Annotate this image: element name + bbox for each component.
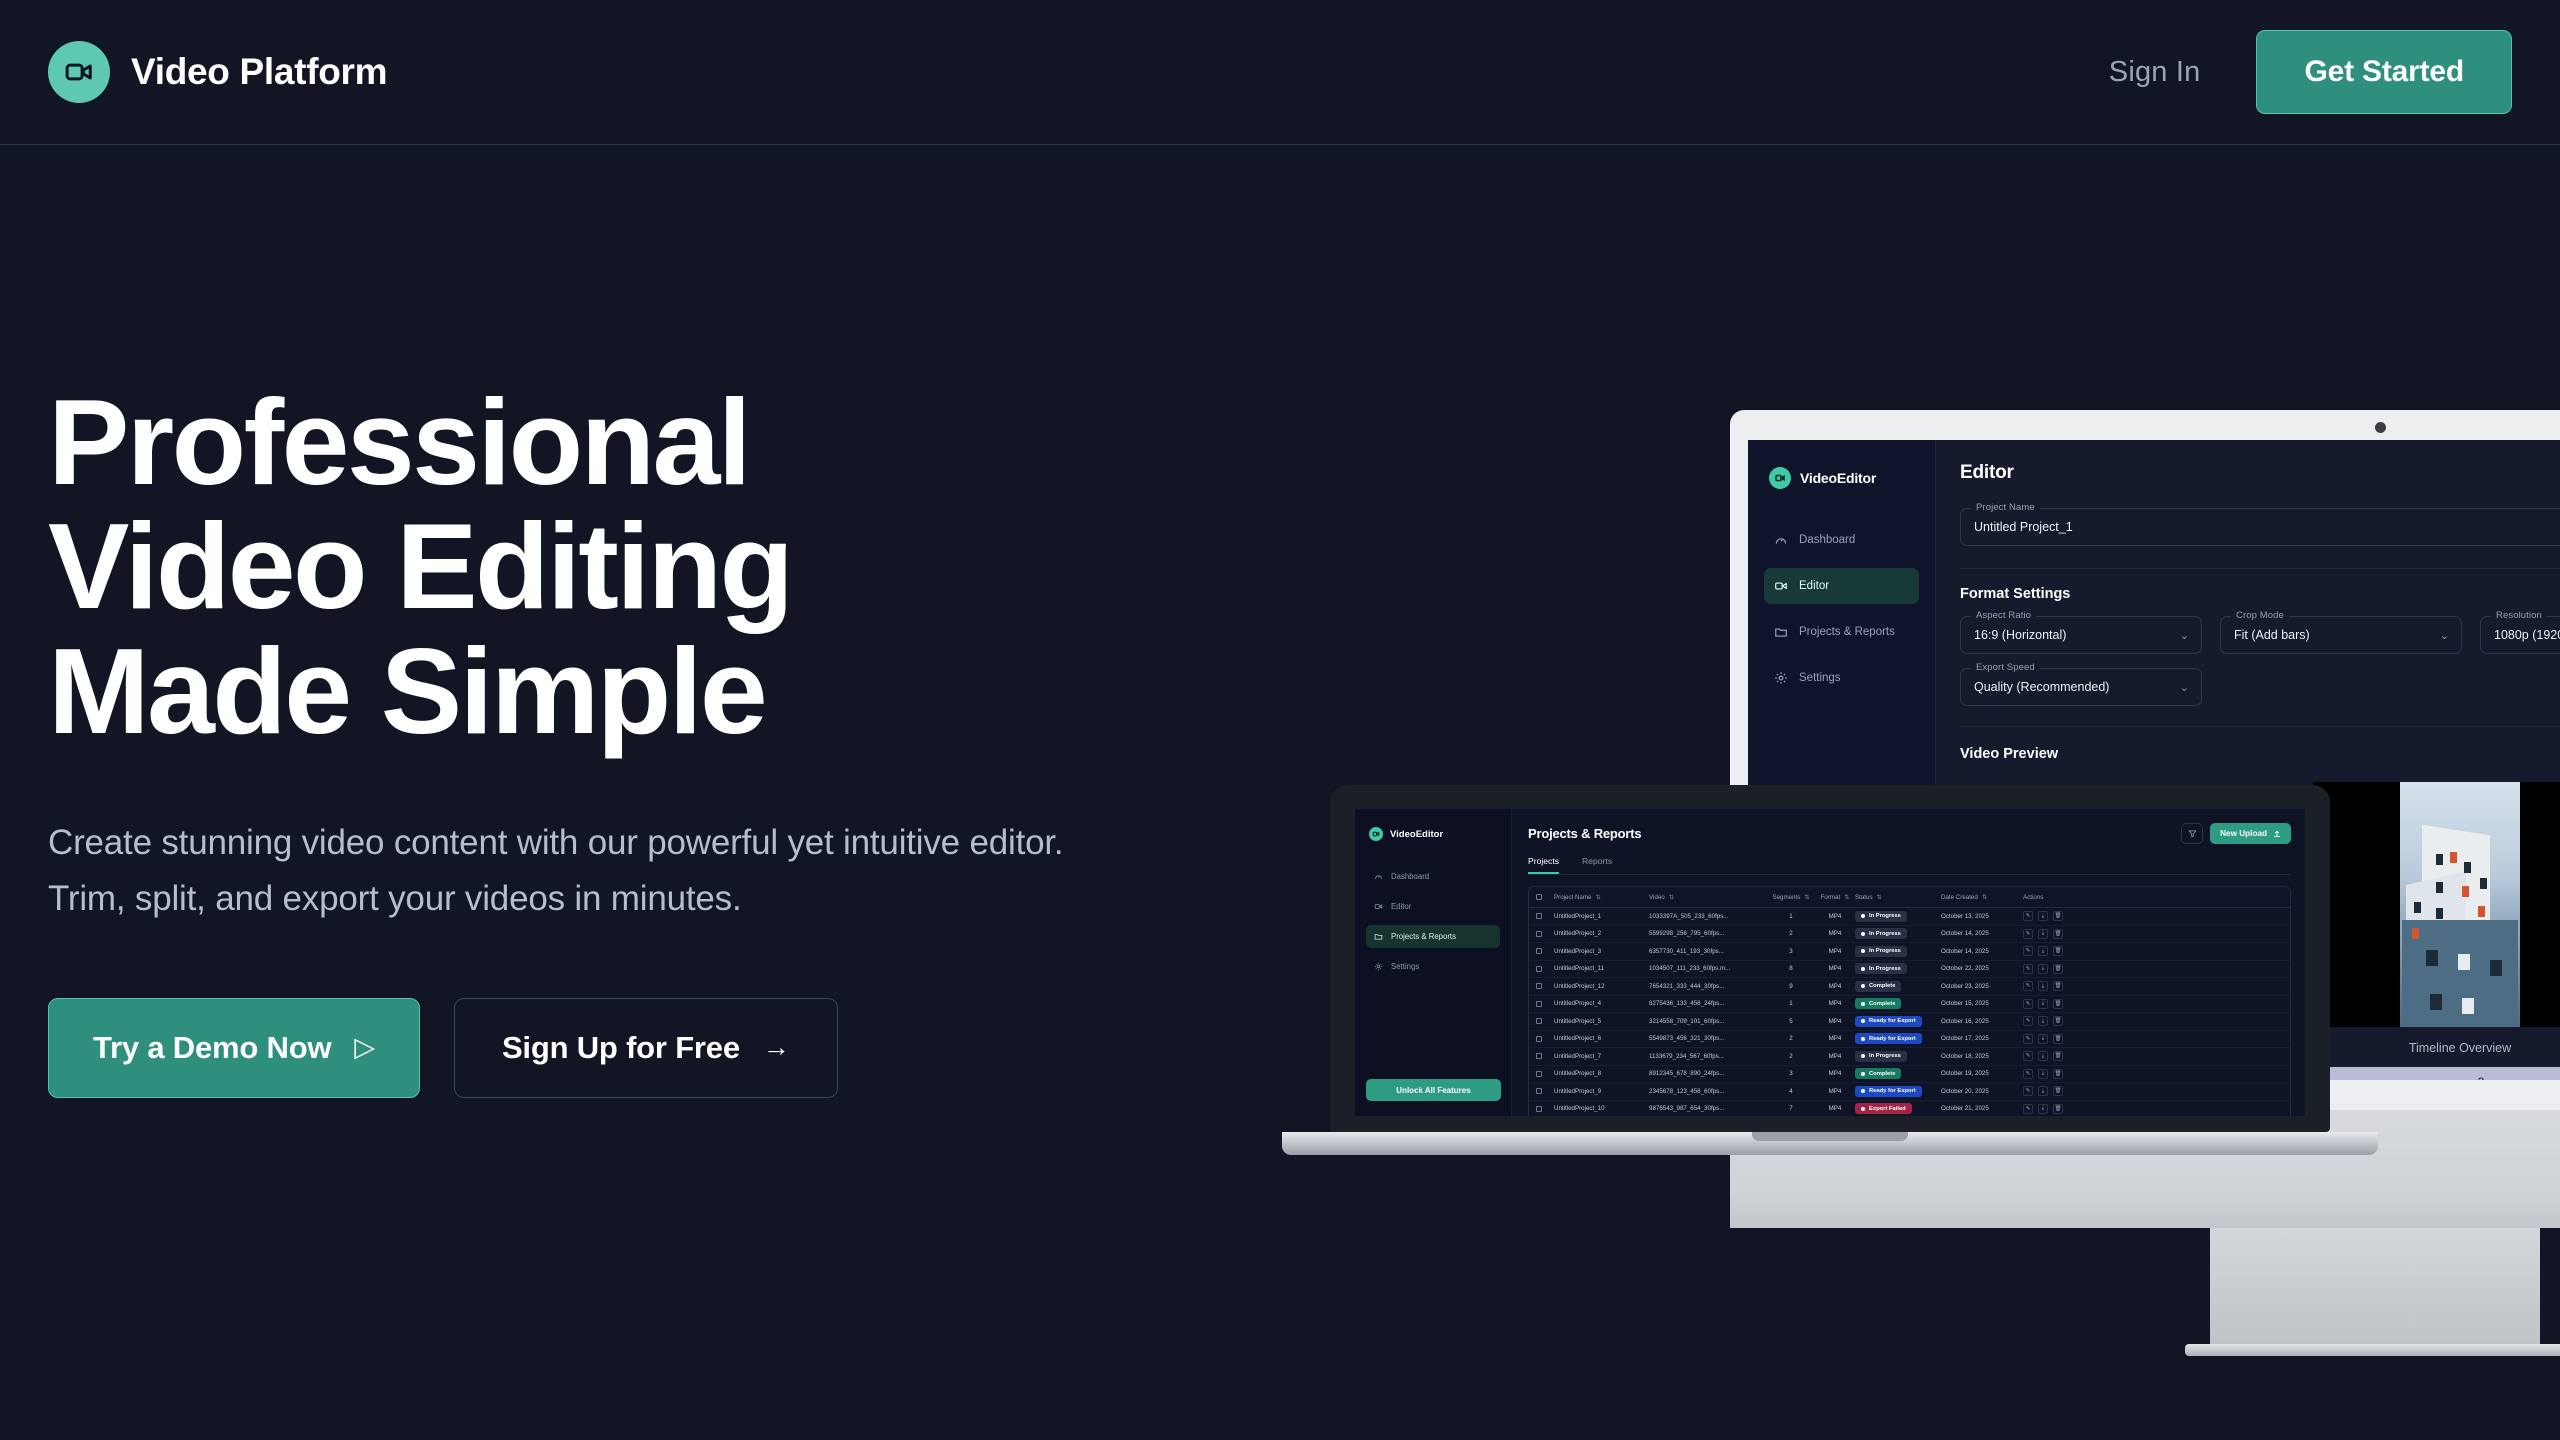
laptop-screen: VideoEditor Dashboard Editor Projects & … [1355,809,2305,1116]
hero-subtitle: Create stunning video content with our p… [48,815,1138,926]
status-badge: In Progress [1855,911,1907,922]
table-row[interactable]: UntitledProject_10 9876543_987_654_30fps… [1529,1101,2290,1117]
table-row[interactable]: UntitledProject_8 8912345_678_890_24fps.… [1529,1066,2290,1084]
status-badge: In Progress [1855,963,1907,974]
table-row[interactable]: UntitledProject_11 1034507_111_233_60fps… [1529,961,2290,979]
cell-date-created: October 22, 2025 [1941,965,2023,972]
cell-project-name: UntitledProject_9 [1554,1088,1649,1095]
project-name-value: Untitled Project_1 [1974,520,2073,534]
edit-icon[interactable]: ✎ [2023,981,2033,991]
row-checkbox[interactable] [1536,1088,1554,1094]
trash-icon[interactable]: 🗑 [2053,1051,2063,1061]
edit-icon[interactable]: ✎ [2023,1104,2033,1114]
cell-video: 6357730_411_193_30fps... [1649,948,1767,955]
edit-icon[interactable]: ✎ [2023,1016,2033,1026]
sidebar-item-settings[interactable]: Settings [1764,660,1919,696]
table-row[interactable]: UntitledProject_3 6357730_411_193_30fps.… [1529,943,2290,961]
download-icon[interactable]: ⤓ [2038,911,2048,921]
sign-in-button[interactable]: Sign In [2109,56,2201,89]
cell-status: Export Failed [1855,1103,1941,1114]
cell-date-created: October 21, 2025 [1941,1105,2023,1112]
resolution-value: 1080p (1920x1080) [2494,628,2560,642]
projects-app: VideoEditor Dashboard Editor Projects & … [1355,809,2305,1116]
cell-status: Complete [1855,981,1941,992]
crop-mode-value: Fit (Add bars) [2234,628,2310,642]
cell-format: MP4 [1815,948,1855,955]
sidebar-item-label: Settings [1799,672,1841,684]
cell-project-name: UntitledProject_4 [1554,1000,1649,1007]
hero-title-line-3: Made Simple [48,629,1228,753]
sidebar-item-editor[interactable]: Editor [1366,895,1500,918]
aspect-ratio-label: Aspect Ratio [1971,610,2036,621]
trash-icon[interactable]: 🗑 [2053,981,2063,991]
cell-actions: ✎ ⤓ 🗑 [2023,1034,2283,1044]
cell-format: MP4 [1815,1053,1855,1060]
sort-icon: ⇅ [1595,894,1600,901]
cell-date-created: October 18, 2025 [1941,1053,2023,1060]
status-badge: Ready for Export [1855,1033,1922,1044]
table-row[interactable]: UntitledProject_2 5599298_256_795_60fps.… [1529,926,2290,944]
sidebar-item-label: Dashboard [1799,534,1855,546]
cell-project-name: UntitledProject_7 [1554,1053,1649,1060]
sidebar-item-label: Editor [1799,580,1829,592]
sidebar-item-editor[interactable]: Editor [1764,568,1919,604]
new-upload-button[interactable]: New Upload [2210,823,2291,844]
video-camera-icon [1369,827,1383,841]
projects-tabs: ProjectsReports [1528,856,2291,875]
projects-toolbar: New Upload [2181,823,2291,844]
divider [1960,726,2560,727]
chevron-down-icon: ⌄ [2440,629,2449,642]
cell-date-created: October 13, 2025 [1941,913,2023,920]
cell-video: 8275436_133_456_24fps... [1649,1000,1767,1007]
monitor-stand-neck [2210,1228,2540,1350]
status-badge: Export Failed [1855,1103,1912,1114]
cell-project-name: UntitledProject_12 [1554,983,1649,990]
sidebar-item-settings[interactable]: Settings [1366,955,1500,978]
tab-projects[interactable]: Projects [1528,856,1559,874]
chevron-down-icon: ⌄ [2180,629,2189,642]
cell-video: 5599298_256_795_60fps... [1649,930,1767,937]
timeline-overview-caption: Timeline Overview [2409,1041,2511,1055]
editor-brand: VideoEditor [1764,467,1919,489]
cell-status: Ready for Export [1855,1016,1941,1027]
gear-icon [1374,962,1383,971]
sort-icon: ⇅ [1844,894,1849,901]
format-settings-row-1: Aspect Ratio 16:9 (Horizontal) ⌄ Crop Mo… [1960,602,2560,654]
row-checkbox[interactable] [1536,948,1554,954]
gauge-icon [1374,872,1383,881]
cell-video: 1133679_234_567_60fps... [1649,1053,1767,1060]
arrow-right-icon: → [763,1034,790,1061]
column-video[interactable]: Video⇅ [1649,894,1767,901]
try-demo-button[interactable]: Try a Demo Now ▷ [48,998,420,1098]
cell-video: 3214558_709_101_60fps... [1649,1018,1767,1025]
cell-actions: ✎ ⤓ 🗑 [2023,1069,2283,1079]
table-row[interactable]: UntitledProject_7 1133679_234_567_60fps.… [1529,1048,2290,1066]
cell-actions: ✎ ⤓ 🗑 [2023,964,2283,974]
video-camera-icon [1774,579,1788,593]
status-badge: Complete [1855,1068,1901,1079]
trash-icon[interactable]: 🗑 [2053,929,2063,939]
sort-icon: ⇅ [1877,894,1882,901]
cell-segments: 4 [1767,1088,1815,1095]
sidebar-item-label: Dashboard [1391,872,1429,881]
sort-icon: ⇅ [1669,894,1674,901]
cell-format: MP4 [1815,930,1855,937]
cell-actions: ✎ ⤓ 🗑 [2023,1086,2283,1096]
edit-icon[interactable]: ✎ [2023,1086,2033,1096]
gear-icon [1774,671,1788,685]
row-checkbox[interactable] [1536,1106,1554,1112]
row-checkbox[interactable] [1536,1018,1554,1024]
column-date-created[interactable]: Date Created⇅ [1941,894,2023,901]
table-row[interactable]: UntitledProject_9 2345678_123_456_60fps.… [1529,1083,2290,1101]
chevron-down-icon: ⌄ [2180,681,2189,694]
video-player[interactable] [2313,782,2560,1027]
projects-page-title: Projects & Reports [1528,826,2291,841]
cell-actions: ✎ ⤓ 🗑 [2023,1104,2283,1114]
cell-format: MP4 [1815,1035,1855,1042]
upload-icon [2273,830,2281,838]
table-row[interactable]: UntitledProject_6 5549873_456_321_30fps.… [1529,1031,2290,1049]
cell-project-name: UntitledProject_3 [1554,948,1649,955]
status-badge: Complete [1855,981,1901,992]
projects-brand-name: VideoEditor [1390,829,1443,840]
cell-segments: 2 [1767,1053,1815,1060]
download-icon[interactable]: ⤓ [2038,1016,2048,1026]
row-checkbox[interactable] [1536,966,1554,972]
cell-actions: ✎ ⤓ 🗑 [2023,929,2283,939]
header-actions: Sign In Get Started [2109,30,2512,114]
cell-segments: 2 [1767,930,1815,937]
trash-icon[interactable]: 🗑 [2053,999,2063,1009]
monitor-stand-foot [2185,1344,2560,1356]
trash-icon[interactable]: 🗑 [2053,1034,2063,1044]
webcam-icon [2375,422,2386,433]
download-icon[interactable]: ⤓ [2038,946,2048,956]
download-icon[interactable]: ⤓ [2038,929,2048,939]
sidebar-item-projects-reports[interactable]: Projects & Reports [1366,925,1500,948]
video-preview-heading: Video Preview [1960,746,2058,762]
cell-date-created: October 15, 2025 [1941,1000,2023,1007]
sidebar-item-projects-reports[interactable]: Projects & Reports [1764,614,1919,650]
cell-actions: ✎ ⤓ 🗑 [2023,981,2283,991]
edit-icon[interactable]: ✎ [2023,964,2033,974]
row-checkbox[interactable] [1536,1036,1554,1042]
export-speed-value: Quality (Recommended) [1974,680,2109,694]
folder-icon [1774,625,1788,639]
hero-cta-row: Try a Demo Now ▷ Sign Up for Free → [48,998,1228,1098]
cell-format: MP4 [1815,913,1855,920]
product-mockup-scene: VideoEditor Dashboard Editor Projects & … [1330,330,2560,1200]
export-speed-label: Export Speed [1971,662,2040,673]
cell-format: MP4 [1815,983,1855,990]
edit-icon[interactable]: ✎ [2023,999,2033,1009]
status-badge: In Progress [1855,928,1907,939]
sort-icon: ⇅ [1804,894,1809,901]
cell-format: MP4 [1815,1088,1855,1095]
crop-mode-label: Crop Mode [2231,610,2289,621]
edit-icon[interactable]: ✎ [2023,911,2033,921]
column-project-name[interactable]: Project Name⇅ [1554,894,1649,901]
hero-section: Professional Video Editing Made Simple C… [48,380,1228,1098]
projects-brand: VideoEditor [1366,827,1500,841]
trash-icon[interactable]: 🗑 [2053,1016,2063,1026]
resolution-select[interactable]: Resolution 1080p (1920x1080) ⌄ [2480,616,2560,654]
cell-project-name: UntitledProject_10 [1554,1105,1649,1112]
download-icon[interactable]: ⤓ [2038,964,2048,974]
cell-actions: ✎ ⤓ 🗑 [2023,946,2283,956]
cell-format: MP4 [1815,1105,1855,1112]
cell-date-created: October 16, 2025 [1941,1018,2023,1025]
row-checkbox[interactable] [1536,1001,1554,1007]
cell-video: 5549873_456_321_30fps... [1649,1035,1767,1042]
sign-up-free-button[interactable]: Sign Up for Free → [454,998,838,1098]
edit-icon[interactable]: ✎ [2023,1069,2033,1079]
cell-actions: ✎ ⤓ 🗑 [2023,911,2283,921]
video-preview-header: Video Preview Video player size [1960,746,2560,762]
laptop-notch [1770,785,1890,800]
download-icon[interactable]: ⤓ [2038,999,2048,1009]
cell-segments: 3 [1767,1070,1815,1077]
cell-video: 8912345_678_890_24fps... [1649,1070,1767,1077]
cell-segments: 3 [1767,948,1815,955]
cell-date-created: October 17, 2025 [1941,1035,2023,1042]
cell-actions: ✎ ⤓ 🗑 [2023,1016,2283,1026]
cell-status: Ready for Export [1855,1086,1941,1097]
row-checkbox[interactable] [1536,1071,1554,1077]
sidebar-item-dashboard[interactable]: Dashboard [1764,522,1919,558]
crop-mode-select[interactable]: Crop Mode Fit (Add bars) ⌄ [2220,616,2462,654]
cell-status: In Progress [1855,911,1941,922]
brand-name: Video Platform [131,51,387,93]
download-icon[interactable]: ⤓ [2038,1086,2048,1096]
projects-nav-list: Dashboard Editor Projects & Reports Sett… [1366,865,1500,978]
export-speed-select[interactable]: Export Speed Quality (Recommended) ⌄ [1960,668,2202,706]
table-row[interactable]: UntitledProject_12 7654321_333_444_30fps… [1529,978,2290,996]
edit-icon[interactable]: ✎ [2023,946,2033,956]
projects-table: Project Name⇅ Video⇅ Segments⇅ Format⇅ S… [1528,886,2291,1116]
cell-format: MP4 [1815,1070,1855,1077]
laptop-trackpad-notch [1752,1132,1908,1141]
row-checkbox[interactable] [1536,983,1554,989]
download-icon[interactable]: ⤓ [2038,1051,2048,1061]
project-name-label: Project Name [1971,502,2040,513]
cell-project-name: UntitledProject_1 [1554,913,1649,920]
download-icon[interactable]: ⤓ [2038,1034,2048,1044]
cell-date-created: October 23, 2025 [1941,983,2023,990]
get-started-button[interactable]: Get Started [2256,30,2512,114]
cell-status: Ready for Export [1855,1033,1941,1044]
cell-status: Complete [1855,998,1941,1009]
editor-page-title: Editor [1960,462,2560,484]
download-icon[interactable]: ⤓ [2038,981,2048,991]
table-body: UntitledProject_1 1033397A_505_233_60fps… [1529,908,2290,1116]
cell-date-created: October 20, 2025 [1941,1088,2023,1095]
select-all-checkbox[interactable] [1536,894,1554,900]
cell-segments: 2 [1767,1035,1815,1042]
column-status[interactable]: Status⇅ [1855,894,1941,901]
hero-title-line-1: Professional [48,380,1228,504]
brand-logo[interactable]: Video Platform [48,41,387,103]
cell-segments: 7 [1767,1105,1815,1112]
cell-segments: 9 [1767,983,1815,990]
aspect-ratio-value: 16:9 (Horizontal) [1974,628,2066,642]
sidebar-item-dashboard[interactable]: Dashboard [1366,865,1500,888]
trash-icon[interactable]: 🗑 [2053,911,2063,921]
cell-video: 9876543_987_654_30fps... [1649,1105,1767,1112]
status-badge: Complete [1855,998,1901,1009]
row-checkbox[interactable] [1536,931,1554,937]
status-badge: Ready for Export [1855,1086,1922,1097]
status-badge: In Progress [1855,946,1907,957]
edit-icon[interactable]: ✎ [2023,929,2033,939]
sidebar-item-label: Settings [1391,962,1419,971]
cell-status: In Progress [1855,946,1941,957]
cell-video: 2345678_123_456_60fps... [1649,1088,1767,1095]
projects-sidebar: VideoEditor Dashboard Editor Projects & … [1355,809,1512,1116]
cell-segments: 5 [1767,1018,1815,1025]
column-format[interactable]: Format⇅ [1815,894,1855,901]
projects-main: Projects & Reports New Upload [1512,809,2305,1116]
cell-status: Complete [1855,1068,1941,1079]
cell-status: In Progress [1855,1051,1941,1062]
cell-status: In Progress [1855,963,1941,974]
tab-reports[interactable]: Reports [1582,856,1612,874]
page-title: Professional Video Editing Made Simple [48,380,1228,753]
sidebar-item-label: Projects & Reports [1799,626,1895,638]
cell-segments: 8 [1767,965,1815,972]
cell-project-name: UntitledProject_5 [1554,1018,1649,1025]
cell-actions: ✎ ⤓ 🗑 [2023,1051,2283,1061]
format-settings-heading: Format Settings [1960,586,2560,602]
editor-brand-name: VideoEditor [1800,470,1876,486]
row-checkbox[interactable] [1536,1053,1554,1059]
hero-title-line-2: Video Editing [48,504,1228,628]
resolution-label: Resolution [2491,610,2547,621]
aspect-ratio-select[interactable]: Aspect Ratio 16:9 (Horizontal) ⌄ [1960,616,2202,654]
gauge-icon [1774,533,1788,547]
cell-project-name: UntitledProject_6 [1554,1035,1649,1042]
trash-icon[interactable]: 🗑 [2053,1069,2063,1079]
cell-video: 1034507_111_233_60fps.m... [1649,965,1767,972]
table-row[interactable]: UntitledProject_1 1033397A_505_233_60fps… [1529,908,2290,926]
cell-segments: 1 [1767,1000,1815,1007]
table-header-row: Project Name⇅ Video⇅ Segments⇅ Format⇅ S… [1529,887,2290,908]
sort-icon: ⇅ [1982,894,1987,901]
cell-project-name: UntitledProject_8 [1554,1070,1649,1077]
play-triangle-icon: ▷ [354,1034,375,1061]
new-upload-label: New Upload [2220,829,2267,838]
edit-icon[interactable]: ✎ [2023,1034,2033,1044]
laptop-mockup: VideoEditor Dashboard Editor Projects & … [1330,785,2330,1185]
cell-video: 1033397A_505_233_60fps... [1649,913,1767,920]
trash-icon[interactable]: 🗑 [2053,964,2063,974]
status-badge: Ready for Export [1855,1016,1922,1027]
cell-segments: 1 [1767,913,1815,920]
status-badge: In Progress [1855,1051,1907,1062]
video-camera-icon [48,41,110,103]
divider [1960,568,2560,569]
download-icon[interactable]: ⤓ [2038,1104,2048,1114]
cell-video: 7654321_333_444_30fps... [1649,983,1767,990]
edit-icon[interactable]: ✎ [2023,1051,2033,1061]
video-camera-icon [1769,467,1791,489]
sign-up-free-label: Sign Up for Free [502,1030,740,1066]
folder-icon [1374,932,1383,941]
column-segments[interactable]: Segments⇅ [1767,894,1815,901]
video-camera-icon [1374,902,1383,911]
cell-actions: ✎ ⤓ 🗑 [2023,999,2283,1009]
cell-project-name: UntitledProject_11 [1554,965,1649,972]
cell-date-created: October 14, 2025 [1941,930,2023,937]
cell-format: MP4 [1815,1018,1855,1025]
video-frame-building-photo [2400,782,2520,1027]
table-row[interactable]: UntitledProject_5 3214558_709_101_60fps.… [1529,1013,2290,1031]
cell-format: MP4 [1815,965,1855,972]
cell-project-name: UntitledProject_2 [1554,930,1649,937]
download-icon[interactable]: ⤓ [2038,1069,2048,1079]
filter-funnel-icon[interactable] [2181,823,2203,844]
trash-icon[interactable]: 🗑 [2053,1104,2063,1114]
sidebar-item-label: Editor [1391,902,1411,911]
table-row[interactable]: UntitledProject_4 8275436_133_456_24fps.… [1529,996,2290,1014]
trash-icon[interactable]: 🗑 [2053,1086,2063,1096]
project-name-field[interactable]: Project Name Untitled Project_1 [1960,508,2560,546]
site-header: Video Platform Sign In Get Started [0,0,2560,145]
unlock-all-features-button[interactable]: Unlock All Features [1366,1079,1501,1101]
row-checkbox[interactable] [1536,913,1554,919]
sidebar-item-label: Projects & Reports [1391,932,1456,941]
laptop-lid: VideoEditor Dashboard Editor Projects & … [1330,785,2330,1132]
cell-date-created: October 19, 2025 [1941,1070,2023,1077]
cell-status: In Progress [1855,928,1941,939]
cell-date-created: October 14, 2025 [1941,948,2023,955]
trash-icon[interactable]: 🗑 [2053,946,2063,956]
editor-nav-list: Dashboard Editor Projects & Reports Sett… [1764,522,1919,696]
column-actions: Actions [2023,894,2283,901]
cell-format: MP4 [1815,1000,1855,1007]
try-demo-label: Try a Demo Now [93,1030,331,1066]
format-settings-row-2: Export Speed Quality (Recommended) ⌄ [1960,654,2560,706]
